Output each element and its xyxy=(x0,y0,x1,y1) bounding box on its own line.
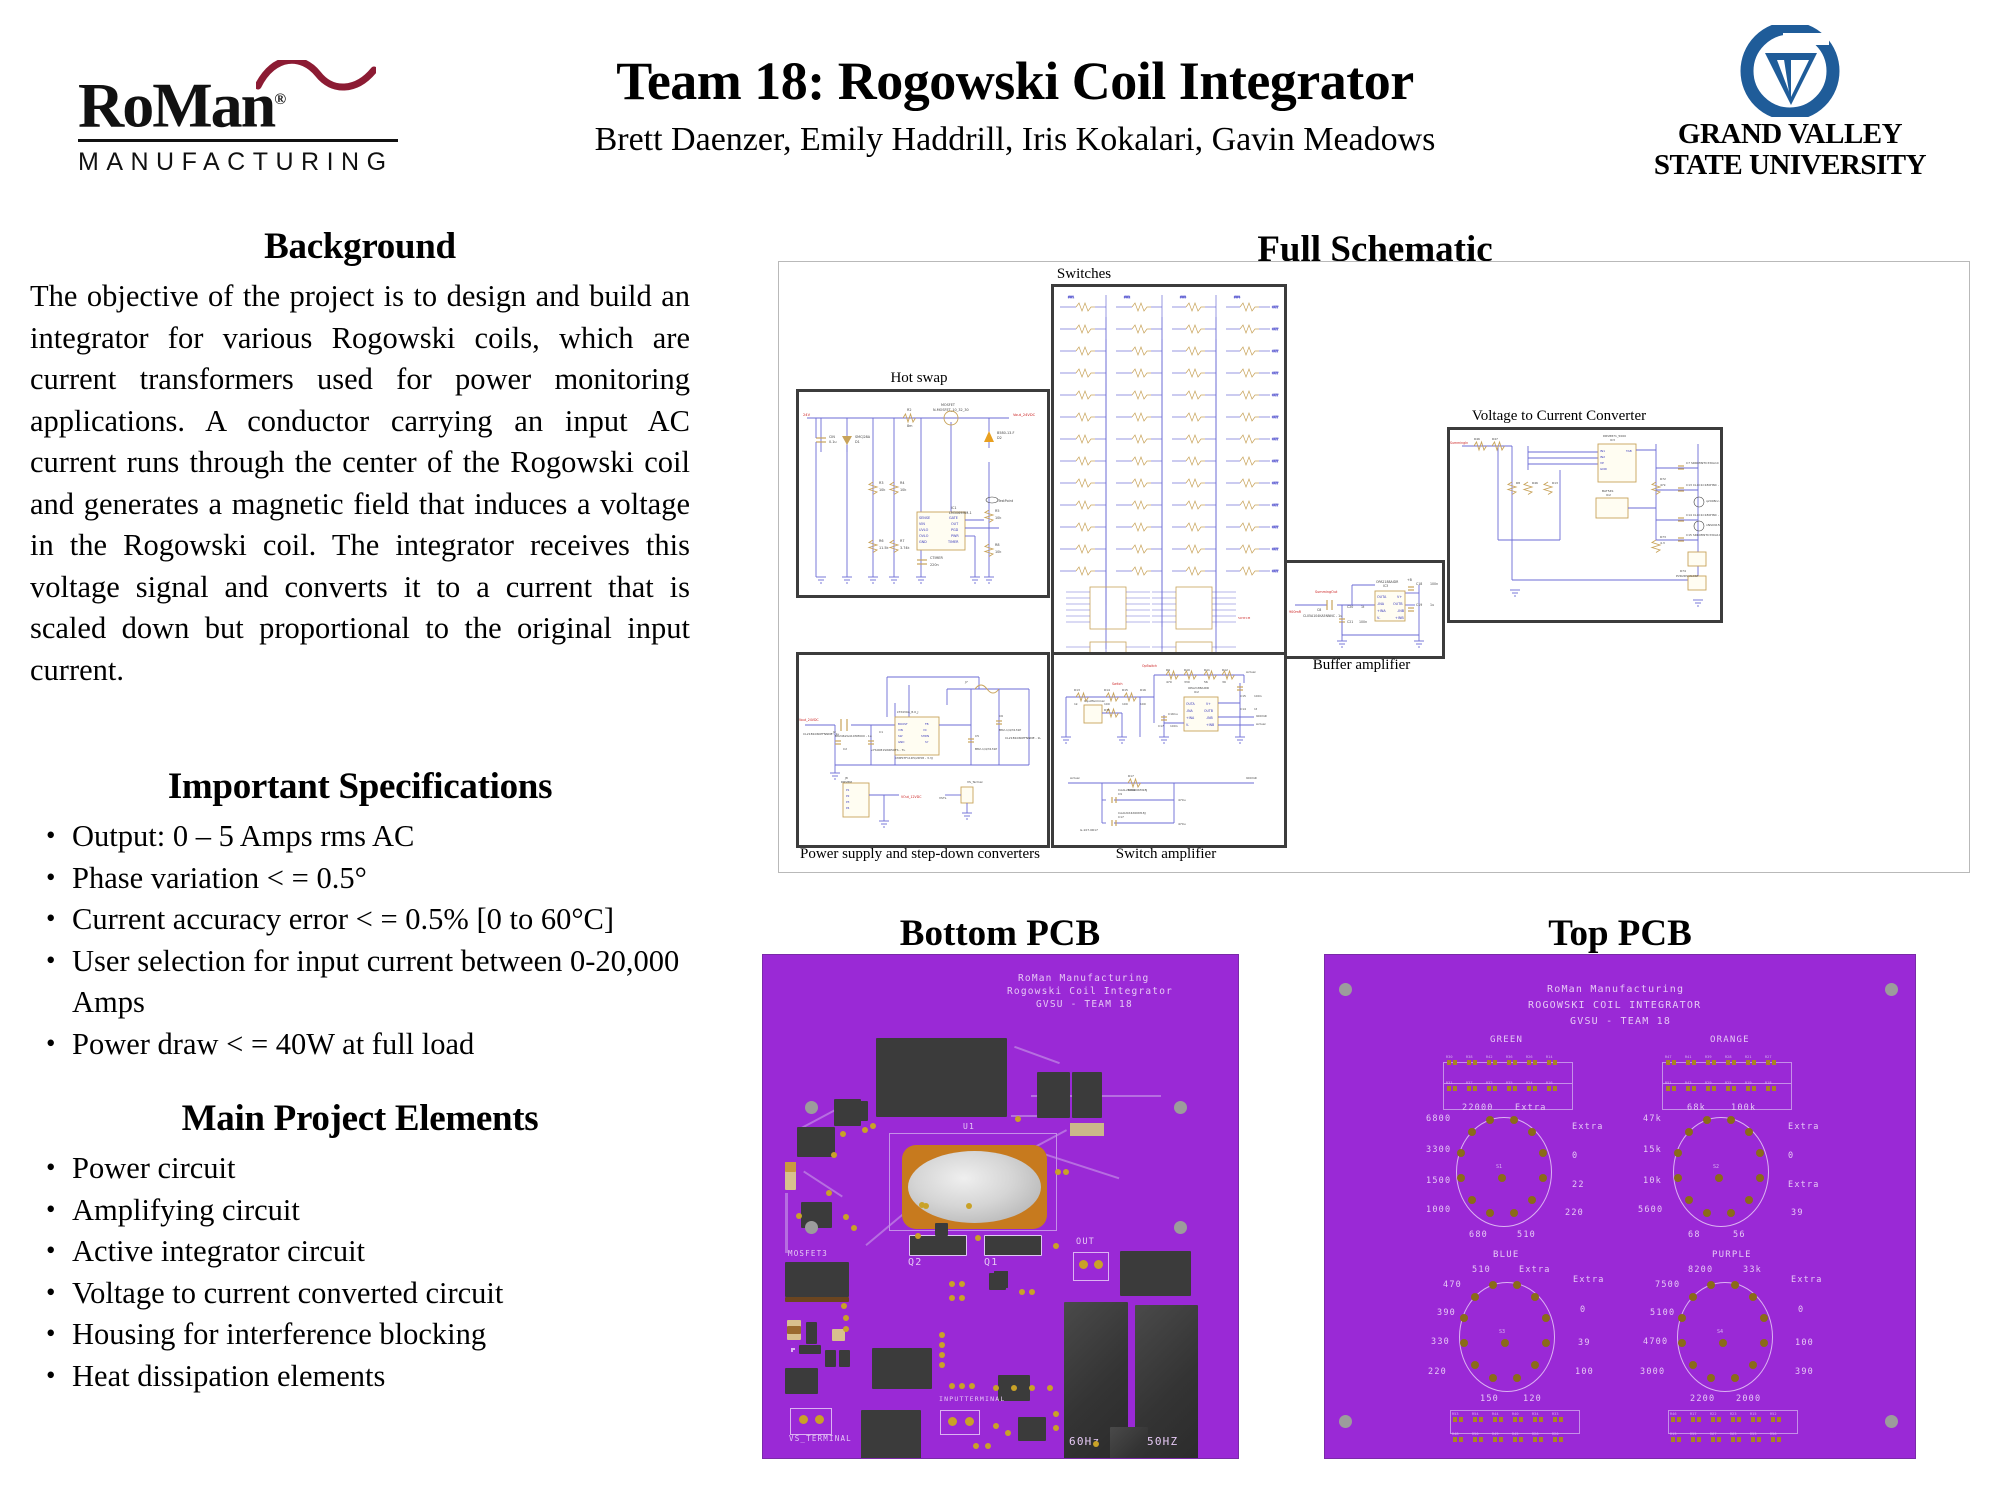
pcb-top-dial-green-left-3: 1500 xyxy=(1426,1176,1451,1186)
pcb-pad xyxy=(826,1190,832,1196)
pcb-top-dial-green-left-1: 6800 xyxy=(1426,1114,1451,1124)
svg-text:10k: 10k xyxy=(995,550,1001,554)
svg-text:SENSE: SENSE xyxy=(919,516,930,520)
svg-text:R53: R53 xyxy=(1750,1432,1757,1436)
pcb-top-dial-purple-top-2: 33k xyxy=(1743,1265,1762,1275)
pcb-bottom-silk-line1: RoMan Manufacturing xyxy=(1018,973,1149,984)
pcb-top-dial-green-right-2: 0 xyxy=(1572,1151,1578,1161)
pcb-pad xyxy=(843,1326,849,1332)
pcb-component xyxy=(872,1348,932,1389)
svg-text:R4: R4 xyxy=(900,481,905,485)
list-item: Power circuit xyxy=(30,1148,690,1190)
svg-text:R17: R17 xyxy=(1128,774,1134,778)
svg-text:-INB: -INB xyxy=(1397,609,1405,613)
roman-logo-subtitle: MANUFACTURING xyxy=(78,148,408,177)
roman-wave-icon xyxy=(256,60,376,94)
svg-text:q2008nn: q2008nn xyxy=(1706,499,1719,503)
schematic-label-power-supply: Power supply and step-down converters xyxy=(789,846,1051,863)
pcb-bottom-silk-u1: U1 xyxy=(963,1122,975,1131)
svg-text:100: 100 xyxy=(1140,702,1146,706)
gvsu-name-line1: GRAND VALLEY xyxy=(1620,119,1960,150)
svg-text:VOut_12VDC: VOut_12VDC xyxy=(901,795,922,799)
svg-text:P4: P4 xyxy=(846,806,850,810)
pcb-mounting-hole xyxy=(1885,983,1898,996)
svg-text:R8: R8 xyxy=(1516,481,1520,485)
pcb-pad xyxy=(1015,1116,1021,1122)
svg-text:InputTerminal: InputTerminal xyxy=(1084,699,1105,703)
svg-text:V-: V- xyxy=(1186,723,1189,727)
pcb-trace xyxy=(785,1193,788,1253)
specifications-heading: Important Specifications xyxy=(30,765,690,808)
svg-text:CTIMER: CTIMER xyxy=(930,556,944,560)
svg-text:R22: R22 xyxy=(1710,1412,1717,1416)
svg-text:CAAU0X4X0KM18J: CAAU0X4X0KM18J xyxy=(1118,811,1146,815)
pcb-pad xyxy=(959,1281,965,1287)
svg-text:C7 SRR0M9TC330A1C - 1u: C7 SRR0M9TC330A1C - 1u xyxy=(1686,461,1720,465)
pcb-component xyxy=(994,1271,1008,1288)
pcb-top-dial-purple-right-3: 100 xyxy=(1795,1338,1814,1348)
svg-text:R14: R14 xyxy=(1546,1055,1553,1059)
svg-text:Actual: Actual xyxy=(1256,722,1266,726)
pcb-spacer xyxy=(791,1348,793,1350)
svg-text:56: 56 xyxy=(1204,680,1208,684)
svg-text:OVLO: OVLO xyxy=(919,534,929,538)
svg-text:IC3: IC3 xyxy=(1383,584,1388,588)
svg-text:GND: GND xyxy=(898,740,904,744)
svg-text:3.74k: 3.74k xyxy=(900,546,910,550)
schematic-label-switch-amplifier: Switch amplifier xyxy=(1051,846,1281,863)
switches-schematic-drawing: SW1 SW2 SW3 SW4 xyxy=(1054,287,1284,692)
svg-text:C13 CL1C1C180HNC - 10p: C13 CL1C1C180HNC - 10p xyxy=(1686,483,1720,487)
pcb-top-dial-green-right-3: 22 xyxy=(1572,1180,1585,1190)
svg-text:BOOST: BOOST xyxy=(898,722,908,726)
svg-text:LT3430A_8.0_J: LT3430A_8.0_J xyxy=(897,710,919,714)
svg-text:C21: C21 xyxy=(1347,620,1353,624)
pcb-top-dial-orange-left-3: 10k xyxy=(1643,1176,1662,1186)
pcb-component xyxy=(785,1262,849,1297)
svg-text:SW: SW xyxy=(898,734,903,738)
svg-text:OUTA: OUTA xyxy=(1186,702,1196,706)
svg-text:UVLO: UVLO xyxy=(919,528,929,532)
svg-text:C2: C2 xyxy=(843,747,847,751)
svg-text:N-MOSFET_10_32_30: N-MOSFET_10_32_30 xyxy=(933,408,969,412)
pcb-top-dial-orange-left-1: 47k xyxy=(1643,1114,1662,1124)
pcb-pad xyxy=(939,1332,945,1338)
list-item: Housing for interference blocking xyxy=(30,1314,690,1356)
list-item: Heat dissipation elements xyxy=(30,1356,690,1398)
pcb-mounting-hole xyxy=(1174,1101,1187,1114)
svg-text:R36: R36 xyxy=(1506,1055,1513,1059)
svg-text:TestPoint: TestPoint xyxy=(997,499,1014,503)
pcb-top-dial-green-name: GREEN xyxy=(1490,1035,1523,1045)
pcb-pad xyxy=(840,1131,846,1137)
pcb-top-dial-green-left-2: 3300 xyxy=(1426,1145,1451,1155)
pcb-pad xyxy=(1063,1169,1069,1175)
svg-text:R45: R45 xyxy=(1512,1432,1519,1436)
pcb-bottom-silk-input-terminal: INPUTTERMINAL xyxy=(939,1395,1005,1403)
svg-text:C20: C20 xyxy=(1347,605,1353,609)
svg-text:OUTA: OUTA xyxy=(1377,595,1387,599)
svg-text:R54: R54 xyxy=(1472,1412,1479,1416)
svg-text:R25: R25 xyxy=(1725,1081,1732,1085)
pcb-top-dial-orange-right-3: Extra xyxy=(1788,1180,1820,1190)
pcb-pad xyxy=(949,1295,955,1301)
svg-text:0.1u: 0.1u xyxy=(829,440,837,444)
svg-text:SW2: SW2 xyxy=(1124,295,1131,299)
pcb-component xyxy=(1072,1072,1102,1118)
svg-text:R21: R21 xyxy=(1745,1055,1752,1059)
pcb-bottom-silk-50hz: 50HZ xyxy=(1147,1435,1178,1448)
list-item: User selection for input current between… xyxy=(30,941,690,1024)
pcb-pad xyxy=(1029,1385,1035,1391)
schematic-block-buffer-amplifier: OUTA-INA+INAV- V+OUTB-INB+INB IC3OPA2188… xyxy=(1284,560,1445,659)
pcb-pad xyxy=(843,1315,849,1321)
svg-text:LM5069MM-1: LM5069MM-1 xyxy=(949,511,972,515)
svg-text:DRV8M: DRV8M xyxy=(841,780,852,784)
roman-manufacturing-logo: RoMan® MANUFACTURING xyxy=(78,68,408,163)
svg-text:10k: 10k xyxy=(995,516,1001,520)
pcb-pad xyxy=(1011,1385,1017,1391)
svg-text:1u: 1u xyxy=(1430,603,1434,607)
pcb-top-silk-line1: RoMan Manufacturing xyxy=(1547,984,1684,995)
svg-text:C6: C6 xyxy=(999,714,1003,718)
pcb-top-dial-purple-right-1: Extra xyxy=(1791,1275,1823,1285)
pcb-top-dial-purple-left-4: 3000 xyxy=(1640,1367,1665,1377)
svg-text:B82-1/4/3131P: B82-1/4/3131P xyxy=(999,728,1021,732)
pcb-mounting-hole xyxy=(1339,983,1352,996)
svg-text:CIN: CIN xyxy=(829,435,835,439)
pcb-dial-blue-resistors: R53R54R44 R40R34R33 R48R50R49 R45R26R20 xyxy=(1447,1405,1582,1450)
svg-text:1t: 1t xyxy=(1254,707,1258,711)
svg-text:SMCJ28A: SMCJ28A xyxy=(855,435,871,439)
schematic-block-switches: SW1 SW2 SW3 SW4 xyxy=(1051,284,1287,695)
pcb-dial-orange-pads: S2 xyxy=(1667,1110,1775,1232)
svg-text:DRV8871_5000: DRV8871_5000 xyxy=(1603,434,1626,438)
svg-text:SWITCH: SWITCH xyxy=(1238,616,1251,620)
pcb-pad xyxy=(1029,1289,1035,1295)
pcb-bottom-silk-mosfet3: MOSFET3 xyxy=(788,1249,828,1258)
pcb-pad xyxy=(959,1295,965,1301)
svg-text:R26: R26 xyxy=(1532,1432,1539,1436)
pcb-pad xyxy=(1019,1289,1025,1295)
svg-text:R44: R44 xyxy=(1492,1412,1499,1416)
svg-text:R56: R56 xyxy=(1770,1432,1777,1436)
svg-text:220n: 220n xyxy=(930,563,939,567)
svg-text:R42: R42 xyxy=(1486,1055,1493,1059)
svg-text:R55: R55 xyxy=(1690,1432,1697,1436)
pcb-dial-blue-pads: S3 xyxy=(1453,1275,1561,1397)
svg-text:10k: 10k xyxy=(900,488,906,492)
svg-text:C17: C17 xyxy=(1118,815,1124,819)
pcb-trace xyxy=(803,1171,843,1198)
svg-text:C14: C14 xyxy=(1240,707,1246,711)
pcb-component xyxy=(785,1162,796,1172)
svg-text:SHDN: SHDN xyxy=(921,734,929,738)
schematic-frame: Switches SW1 SW2 SW3 SW4 xyxy=(778,261,1970,873)
pcb-pad xyxy=(939,1362,945,1368)
svg-text:TAB: TAB xyxy=(1625,449,1632,453)
list-item: Phase variation < = 0.5° xyxy=(30,858,690,900)
specifications-list: Output: 0 – 5 Amps rms AC Phase variatio… xyxy=(30,816,690,1065)
pcb-component xyxy=(785,1368,818,1394)
svg-text:R28: R28 xyxy=(1725,1055,1732,1059)
power-supply-schematic-drawing: CL21B106KPFNNNE - 1u J2 B82462G4103M000 … xyxy=(799,655,1047,845)
title-block: Team 18: Rogowski Coil Integrator Brett … xyxy=(500,50,1530,164)
svg-text:Vout_24VDC: Vout_24VDC xyxy=(1013,413,1036,417)
svg-text:R34: R34 xyxy=(1532,1412,1539,1416)
voltage-to-current-schematic-drawing: IN1IN2VPGND TAB IC3DRV8871_5000 IC2BAT54… xyxy=(1450,430,1720,620)
bottom-pcb-image: RoMan Manufacturing Rogowski Coil Integr… xyxy=(763,955,1238,1458)
svg-text:47k: 47k xyxy=(1660,483,1666,487)
svg-text:C15: C15 xyxy=(1240,694,1246,698)
pcb-pad xyxy=(799,1415,808,1424)
list-item: Amplifying circuit xyxy=(30,1190,690,1232)
svg-text:C18: C18 xyxy=(1416,582,1422,586)
pcb-pad xyxy=(841,1303,847,1309)
svg-text:R33: R33 xyxy=(1552,1412,1559,1416)
svg-text:OUT: OUT xyxy=(1272,305,1278,309)
svg-text:G-107.0R17: G-107.0R17 xyxy=(1080,828,1098,832)
pcb-mounting-hole xyxy=(805,1101,818,1114)
svg-text:330: 330 xyxy=(1184,680,1190,684)
svg-text:R50: R50 xyxy=(1472,1432,1479,1436)
pcb-pad xyxy=(949,1383,955,1389)
pcb-pad xyxy=(831,1152,837,1158)
svg-text:470u: 470u xyxy=(1178,798,1186,802)
svg-text:CL05A104KA5NNNC - 1u: CL05A104KA5NNNC - 1u xyxy=(1303,614,1342,618)
svg-text:GND: GND xyxy=(919,540,927,544)
pcb-component xyxy=(1120,1251,1191,1296)
svg-text:900mR: 900mR xyxy=(1246,776,1257,780)
pcb-pad xyxy=(796,1213,802,1219)
svg-text:R9: R9 xyxy=(1166,668,1170,672)
schematic-label-hot-swap: Hot swap xyxy=(839,370,999,387)
schematic-block-power-supply: CL21B106KPFNNNE - 1u J2 B82462G4103M000 … xyxy=(796,652,1050,848)
svg-text:+B: +B xyxy=(1407,578,1412,582)
pcb-top-dial-orange-right-1: Extra xyxy=(1788,1122,1820,1132)
svg-text:R11: R11 xyxy=(1204,668,1210,672)
svg-text:B82-1/4/3131P: B82-1/4/3131P xyxy=(975,747,997,751)
pcb-top-dial-blue-top-1: 510 xyxy=(1472,1265,1491,1275)
svg-text:R31: R31 xyxy=(1446,1081,1453,1085)
pcb-dial-orange-resistors: R47R41R39 R28R21R27 R51R43R29 R25R19R18 xyxy=(1660,1055,1795,1110)
pcb-mounting-hole xyxy=(1885,1415,1898,1428)
pcb-dial-purple-resistors: R46R17R22 R23R15R52 R13R55R67 R63R53R56 xyxy=(1665,1405,1800,1450)
svg-text:+INA: +INA xyxy=(1377,609,1386,613)
pcb-outline-out xyxy=(1073,1252,1109,1281)
pcb-pad xyxy=(1047,1385,1053,1391)
svg-text:C1: C1 xyxy=(879,730,883,734)
list-item: Voltage to current converted circuit xyxy=(30,1273,690,1315)
svg-text:8m: 8m xyxy=(907,424,913,428)
pcb-pad xyxy=(1055,1169,1061,1175)
svg-text:R38: R38 xyxy=(1466,1055,1473,1059)
pcb-bottom-silk-out: OUT xyxy=(1076,1237,1095,1247)
pcb-top-dial-blue-top-2: Extra xyxy=(1519,1265,1551,1275)
pcb-component xyxy=(799,1345,821,1354)
svg-text:Vout_24VDC: Vout_24VDC xyxy=(799,718,819,722)
svg-text:CMPSTF11D5/2D58 - 3.3J: CMPSTF11D5/2D58 - 3.3J xyxy=(895,756,933,760)
svg-text:V+: V+ xyxy=(1206,702,1211,706)
svg-text:R46: R46 xyxy=(1474,437,1480,441)
main-elements-list: Power circuit Amplifying circuit Active … xyxy=(30,1148,690,1397)
svg-text:-INA: -INA xyxy=(1377,602,1385,606)
svg-text:R67: R67 xyxy=(1710,1432,1717,1436)
pcb-component xyxy=(876,1038,1007,1117)
svg-text:R10: R10 xyxy=(1184,668,1190,672)
svg-text:C19: C19 xyxy=(1416,603,1422,607)
svg-text:R18: R18 xyxy=(1765,1081,1772,1085)
svg-text:R30: R30 xyxy=(1446,1055,1453,1059)
svg-text:R8: R8 xyxy=(995,543,1000,547)
svg-text:R13: R13 xyxy=(1552,481,1558,485)
svg-text:SW1: SW1 xyxy=(1068,295,1075,299)
list-item: Output: 0 – 5 Amps rms AC xyxy=(30,816,690,858)
pcb-pad xyxy=(939,1352,945,1358)
svg-text:1u: 1u xyxy=(1174,712,1178,716)
pcb-bottom-silk-vs-terminal: VS_TERMINAL xyxy=(789,1434,852,1443)
svg-text:R48: R48 xyxy=(1452,1432,1459,1436)
svg-text:PWR: PWR xyxy=(951,534,959,538)
pcb-component xyxy=(861,1410,921,1458)
pcb-bottom-silk-line3: GVSU - TEAM 18 xyxy=(1036,999,1133,1010)
pcb-top-dial-purple-right-2: 0 xyxy=(1798,1305,1804,1315)
pcb-pad xyxy=(843,1214,849,1220)
svg-text:R2: R2 xyxy=(907,408,912,412)
svg-text:BAT54S: BAT54S xyxy=(1602,489,1614,493)
schematic-label-voltage-to-current: Voltage to Current Converter xyxy=(1399,408,1719,425)
pcb-pad xyxy=(969,1383,975,1389)
hot-swap-schematic-drawing: SENSEVINUVLO OVLOGND GATEOUTPGD PWRTIMER… xyxy=(799,392,1047,595)
svg-text:100n: 100n xyxy=(1254,694,1262,698)
svg-text:R53: R53 xyxy=(1452,1412,1459,1416)
pcb-component xyxy=(856,1101,868,1121)
pcb-bottom-silk-line2: Rogowski Coil Integrator xyxy=(1007,986,1173,997)
poster-header: RoMan® MANUFACTURING Team 18: Rogowski C… xyxy=(0,0,2000,215)
background-body-text: The objective of the project is to desig… xyxy=(30,276,690,691)
pcb-pad xyxy=(815,1415,824,1424)
pcb-pad xyxy=(915,1233,921,1239)
switch-amplifier-schematic-drawing: OUTA-INA+INAV- V+OUTB-INB+INB R131k R141… xyxy=(1054,655,1284,845)
pcb-top-dial-blue-right-1: Extra xyxy=(1573,1275,1605,1285)
svg-text:C14 CL1C1C180HNC - 10u: C14 CL1C1C180HNC - 10u xyxy=(1686,513,1720,517)
pcb-dial-purple-pads: S4 xyxy=(1671,1275,1779,1397)
svg-text:OpSwitch: OpSwitch xyxy=(1142,664,1157,668)
svg-text:11.5k: 11.5k xyxy=(879,546,889,550)
svg-text:SW3: SW3 xyxy=(1180,295,1187,299)
pcb-pad xyxy=(1070,1123,1104,1136)
svg-text:R26: R26 xyxy=(1526,1055,1533,1059)
svg-text:IC2: IC2 xyxy=(1194,690,1199,694)
pcb-top-dial-purple-name: PURPLE xyxy=(1712,1250,1752,1260)
svg-text:R23: R23 xyxy=(1730,1412,1737,1416)
pcb-top-dial-green-right-1: Extra xyxy=(1572,1122,1604,1132)
pcb-top-dial-orange-left-2: 15k xyxy=(1643,1145,1662,1155)
svg-text:OPA2188AIDR: OPA2188AIDR xyxy=(1188,686,1209,690)
svg-text:OUTB: OUTB xyxy=(1204,709,1213,713)
svg-text:GND: GND xyxy=(1600,467,1608,471)
list-item: Current accuracy error < = 0.5% [0 to 60… xyxy=(30,899,690,941)
list-item: Power draw < = 40W at full load xyxy=(30,1024,690,1066)
svg-text:R29: R29 xyxy=(1705,1081,1712,1085)
pcb-top-silk-line2: ROGOWSKI COIL INTEGRATOR xyxy=(1528,1000,1701,1011)
svg-text:C17: C17 xyxy=(1158,724,1164,728)
svg-text:10k: 10k xyxy=(879,488,885,492)
pcb-component xyxy=(806,1322,817,1344)
pcb-pad xyxy=(923,1203,929,1209)
svg-text:v7S0081SI6R50TS - 7L: v7S0081SI6R50TS - 7L xyxy=(871,748,905,752)
svg-text:R27: R27 xyxy=(1765,1055,1772,1059)
svg-text:PGD: PGD xyxy=(951,528,959,532)
pcb-component xyxy=(839,1350,850,1367)
svg-text:R19: R19 xyxy=(1745,1081,1752,1085)
pcb-pad xyxy=(851,1225,857,1231)
svg-text:R17: R17 xyxy=(1690,1412,1697,1416)
svg-text:B82462G4103M000 - 1u: B82462G4103M000 - 1u xyxy=(835,734,872,738)
pcb-top-dial-purple-right-4: 390 xyxy=(1795,1367,1814,1377)
pcb-component xyxy=(797,1127,835,1157)
svg-text:R20: R20 xyxy=(1552,1432,1559,1436)
svg-text:R74: R74 xyxy=(1680,569,1686,573)
pcb-top-dial-orange-right-2: 0 xyxy=(1788,1151,1794,1161)
buffer-amplifier-schematic-drawing: OUTA-INA+INAV- V+OUTB-INB+INB IC3OPA2188… xyxy=(1287,563,1442,656)
roman-logo-word: RoMan xyxy=(78,69,274,140)
svg-text:1t: 1t xyxy=(1361,605,1365,609)
svg-text:OUT: OUT xyxy=(951,522,959,526)
svg-text:VS_Termal: VS_Termal xyxy=(967,780,983,784)
gvsu-name-line2: STATE UNIVERSITY xyxy=(1620,150,1960,181)
pcb-outline-vs-terminal xyxy=(790,1408,832,1435)
svg-text:R3: R3 xyxy=(879,481,884,485)
svg-text:470u: 470u xyxy=(1178,822,1186,826)
svg-text:R43: R43 xyxy=(1685,1081,1692,1085)
svg-text:R5: R5 xyxy=(995,509,1000,513)
pcb-top-dial-purple-left-3: 4700 xyxy=(1643,1337,1668,1347)
svg-text:R46: R46 xyxy=(1670,1412,1677,1416)
svg-text:R24: R24 xyxy=(1526,1081,1533,1085)
svg-text:S3: S3 xyxy=(1499,1329,1505,1335)
svg-text:R15: R15 xyxy=(1750,1412,1757,1416)
svg-text:900mR: 900mR xyxy=(1289,610,1302,614)
top-pcb-heading: Top PCB xyxy=(1325,912,1915,955)
svg-text:R6: R6 xyxy=(879,539,884,543)
pcb-pad xyxy=(1079,1260,1088,1269)
svg-text:S1: S1 xyxy=(1496,1164,1502,1170)
svg-text:B580-13-F: B580-13-F xyxy=(997,431,1015,435)
svg-text:D2: D2 xyxy=(997,436,1002,440)
svg-text:R49: R49 xyxy=(1492,1432,1499,1436)
pcb-component xyxy=(787,1326,801,1334)
svg-text:R32: R32 xyxy=(1486,1081,1493,1085)
svg-text:C9: C9 xyxy=(1118,792,1122,796)
pcb-component xyxy=(935,1223,948,1236)
pcb-dial-green-pads: S1 xyxy=(1450,1110,1558,1232)
gvsu-shield-icon xyxy=(1731,25,1849,117)
svg-text:CAAL2BU4X0KM18J: CAAL2BU4X0KM18J xyxy=(1118,788,1147,792)
pcb-top-dial-purple-top-1: 8200 xyxy=(1688,1265,1713,1275)
svg-text:470: 470 xyxy=(1166,680,1172,684)
svg-text:IC1: IC1 xyxy=(951,506,957,510)
svg-text:TIMER: TIMER xyxy=(947,540,959,544)
pcb-pad xyxy=(1093,1441,1099,1447)
pcb-outline-input-terminal xyxy=(940,1410,980,1435)
pcb-mounting-hole xyxy=(1174,1221,1187,1234)
pcb-mounting-hole xyxy=(1339,1415,1352,1428)
svg-text:P2: P2 xyxy=(846,794,850,798)
background-heading: Background xyxy=(30,225,690,268)
svg-text:OPA2188AIDR: OPA2188AIDR xyxy=(1376,580,1399,584)
main-elements-heading: Main Project Elements xyxy=(30,1097,690,1140)
